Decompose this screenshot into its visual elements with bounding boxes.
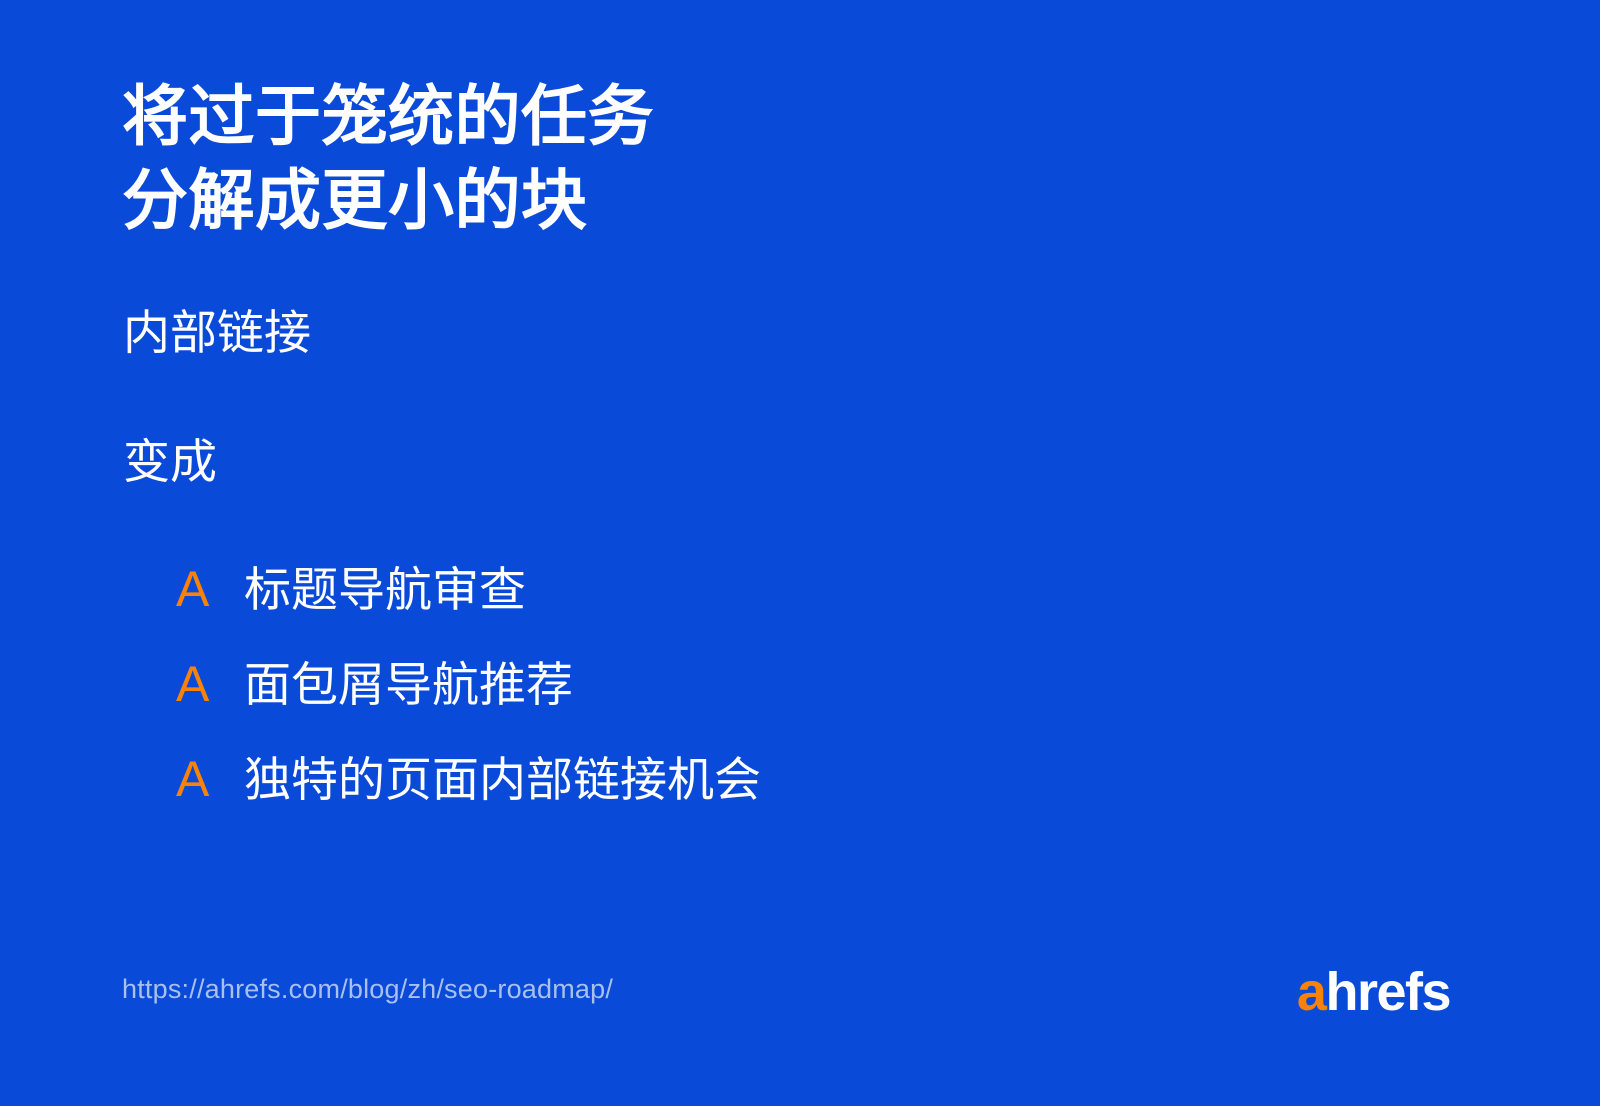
list-item-label: 标题导航审查	[244, 562, 526, 618]
bullet-list: A 标题导航审查 A 面包屑导航推荐 A 独特的页面内部链接机会	[176, 561, 1376, 846]
connector-text: 变成	[123, 432, 217, 492]
bullet-marker-icon: A	[176, 561, 244, 617]
list-item: A 独特的页面内部链接机会	[176, 751, 1376, 846]
bullet-marker-icon: A	[176, 656, 244, 712]
list-item: A 标题导航审查	[176, 561, 1376, 656]
page-title-line-1: 将过于笼统的任务	[122, 74, 1222, 158]
bullet-marker-icon: A	[176, 751, 244, 807]
ahrefs-logo-wordmark: hrefs	[1325, 962, 1450, 1022]
list-item: A 面包屑导航推荐	[176, 656, 1376, 751]
ahrefs-logo: ahrefs	[1297, 962, 1450, 1022]
subtitle-text: 内部链接	[123, 303, 311, 363]
ahrefs-logo-accent-letter: a	[1297, 962, 1326, 1022]
list-item-label: 面包屑导航推荐	[244, 657, 573, 713]
list-item-label: 独特的页面内部链接机会	[244, 752, 761, 808]
slide-canvas: 将过于笼统的任务 分解成更小的块 内部链接 变成 A 标题导航审查 A 面包屑导…	[0, 0, 1600, 1106]
page-title-line-2: 分解成更小的块	[122, 158, 1222, 242]
page-title: 将过于笼统的任务 分解成更小的块	[122, 74, 1222, 242]
source-url-link[interactable]: https://ahrefs.com/blog/zh/seo-roadmap/	[122, 972, 613, 1006]
